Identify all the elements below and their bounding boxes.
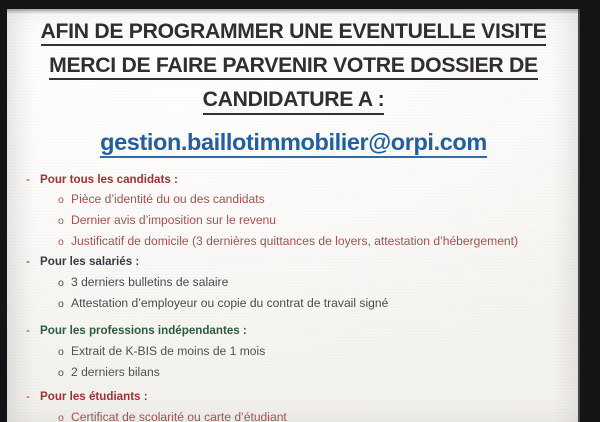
- contact-email-block: gestion.baillotimmobilier@orpi.com: [25, 129, 562, 156]
- list-item-label: 2 derniers bilans: [71, 362, 160, 382]
- list-item-label: Pièce d’identité du ou des candidats: [71, 189, 265, 209]
- title-line-2: MERCI DE FAIRE PARVENIR VOTRE DOSSIER DE: [25, 55, 562, 80]
- list-item-label: 3 derniers bulletins de salaire: [71, 272, 228, 292]
- title-line-2-text: MERCI DE FAIRE PARVENIR VOTRE DOSSIER DE: [49, 55, 538, 80]
- list-item: o Dernier avis d’imposition sur le reven…: [25, 210, 562, 231]
- section-heading: - Pour les professions indépendantes :: [25, 322, 562, 341]
- section-heading: - Pour les salariés :: [25, 253, 562, 272]
- circle-marker-icon: o: [58, 296, 71, 314]
- circle-marker-icon: o: [58, 344, 71, 362]
- list-item: o Justificatif de domicile (3 dernières …: [25, 231, 562, 252]
- circle-marker-icon: o: [58, 213, 71, 231]
- dash-marker: -: [25, 322, 40, 341]
- section-heading-label: Pour les étudiants :: [40, 388, 148, 407]
- list-item: o Extrait de K-BIS de moins de 1 mois: [25, 341, 562, 362]
- list-item: o Certificat de scolarité ou carte d’étu…: [25, 407, 562, 422]
- title-line-1: AFIN DE PROGRAMMER UNE EVENTUELLE VISITE: [25, 21, 562, 46]
- section-heading-label: Pour les professions indépendantes :: [40, 322, 247, 341]
- list-item: o Attestation d’employeur ou copie du co…: [25, 293, 562, 314]
- circle-marker-icon: o: [58, 275, 71, 293]
- section-etudiants: - Pour les étudiants : o Certificat de s…: [25, 388, 562, 422]
- list-item: o Pièce d’identité du ou des candidats: [25, 189, 562, 210]
- document-page: AFIN DE PROGRAMMER UNE EVENTUELLE VISITE…: [7, 9, 580, 422]
- section-items: o Pièce d’identité du ou des candidats o…: [25, 189, 562, 251]
- list-item-label: Dernier avis d’imposition sur le revenu: [71, 210, 276, 230]
- section-professions-independantes: - Pour les professions indépendantes : o…: [25, 322, 562, 382]
- title-line-3-text: CANDIDATURE A :: [203, 89, 385, 114]
- section-heading: - Pour les étudiants :: [25, 388, 562, 407]
- section-items: o Extrait de K-BIS de moins de 1 mois o …: [25, 341, 562, 382]
- section-items: o 3 derniers bulletins de salaire o Atte…: [25, 272, 562, 313]
- section-candidats: - Pour tous les candidats : o Pièce d’id…: [25, 171, 562, 252]
- section-items: o Certificat de scolarité ou carte d’étu…: [25, 407, 562, 422]
- section-heading-label: Pour les salariés :: [40, 253, 139, 272]
- list-item-label: Extrait de K-BIS de moins de 1 mois: [71, 341, 265, 361]
- dash-marker: -: [25, 388, 40, 407]
- section-heading-label: Pour tous les candidats :: [40, 171, 178, 190]
- document-content: AFIN DE PROGRAMMER UNE EVENTUELLE VISITE…: [7, 9, 580, 422]
- contact-email-link[interactable]: gestion.baillotimmobilier@orpi.com: [100, 129, 487, 158]
- scan-frame: AFIN DE PROGRAMMER UNE EVENTUELLE VISITE…: [0, 0, 600, 422]
- list-item: o 3 derniers bulletins de salaire: [25, 272, 562, 293]
- circle-marker-icon: o: [58, 192, 71, 210]
- section-heading: - Pour tous les candidats :: [25, 171, 562, 190]
- section-salaries: - Pour les salariés : o 3 derniers bulle…: [25, 253, 562, 313]
- list-item-label: Justificatif de domicile (3 dernières qu…: [71, 231, 518, 251]
- circle-marker-icon: o: [58, 234, 71, 252]
- dash-marker: -: [25, 253, 40, 272]
- circle-marker-icon: o: [58, 365, 71, 383]
- title-line-3: CANDIDATURE A :: [25, 89, 562, 114]
- circle-marker-icon: o: [58, 410, 71, 422]
- page-title: AFIN DE PROGRAMMER UNE EVENTUELLE VISITE…: [25, 21, 562, 115]
- list-item-label: Certificat de scolarité ou carte d’étudi…: [71, 407, 287, 422]
- title-line-1-text: AFIN DE PROGRAMMER UNE EVENTUELLE VISITE: [41, 21, 547, 46]
- list-item: o 2 derniers bilans: [25, 362, 562, 383]
- list-item-label: Attestation d’employeur ou copie du cont…: [71, 293, 388, 313]
- requirements-list: - Pour tous les candidats : o Pièce d’id…: [25, 171, 562, 422]
- dash-marker: -: [25, 171, 40, 190]
